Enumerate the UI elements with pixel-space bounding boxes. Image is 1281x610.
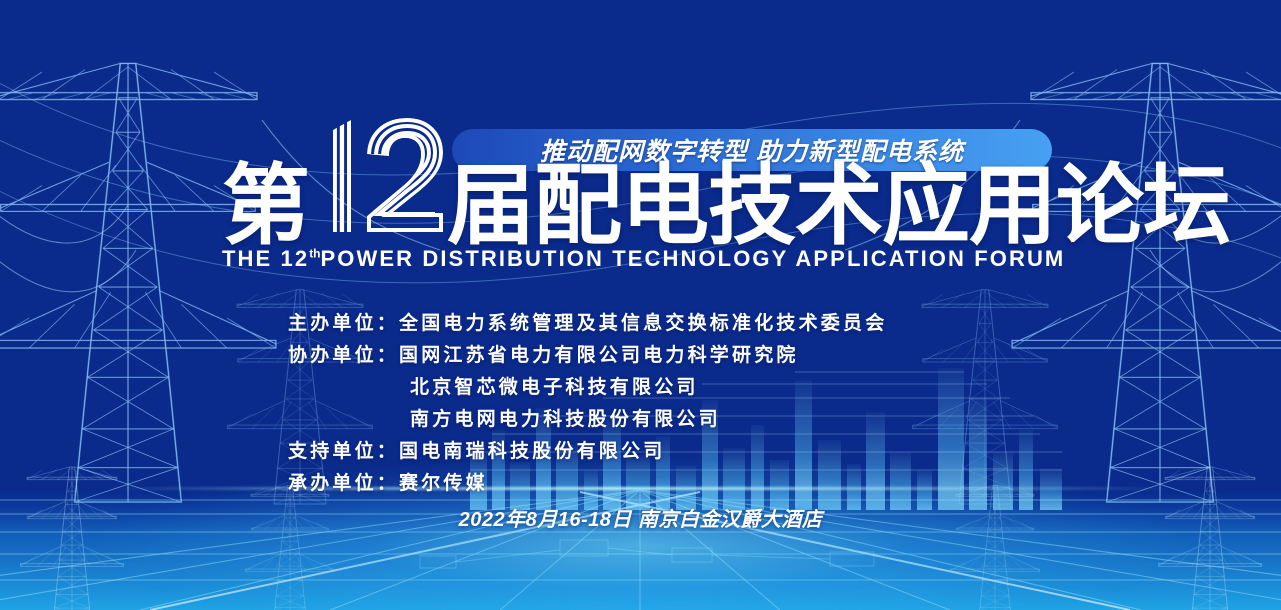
conference-banner: 推动配网数字转型 助力新型配电系统 第 <box>0 0 1281 610</box>
organizer-line: 协办单位：国网江苏省电力有限公司电力科学研究院 <box>288 340 887 367</box>
date-venue-text: 2022年8月16-18日 南京白金汉爵大酒店 <box>459 503 823 532</box>
subtitle-ordinal-suffix: th <box>309 247 320 261</box>
organizer-line: 支持单位：国电南瑞科技股份有限公司 <box>288 436 887 463</box>
organizer-line: 南方电网电力科技股份有限公司 <box>288 404 887 431</box>
organizer-line: 北京智芯微电子科技有限公司 <box>288 372 887 399</box>
banner-content: 推动配网数字转型 助力新型配电系统 第 <box>0 0 1281 610</box>
main-title: 第 <box>222 158 1230 250</box>
organizer-line: 承办单位：赛尔传媒 <box>288 468 887 495</box>
english-subtitle: THE 12thPOWER DISTRIBUTION TECHNOLOGY AP… <box>222 246 1065 272</box>
organizer-line: 主办单位：全国电力系统管理及其信息交换标准化技术委员会 <box>288 308 887 335</box>
title-suffix: 届配电技术应用论坛 <box>447 162 1230 250</box>
subtitle-post: POWER DISTRIBUTION TECHNOLOGY APPLICATIO… <box>321 246 1066 271</box>
organizers-block: 主办单位：全国电力系统管理及其信息交换标准化技术委员会 协办单位：国网江苏省电力… <box>288 308 887 495</box>
title-number-12 <box>311 116 443 234</box>
title-prefix: 第 <box>222 162 309 250</box>
subtitle-pre: THE 12 <box>222 246 309 271</box>
event-footer: 2022年8月16-18日 南京白金汉爵大酒店 <box>0 503 1281 532</box>
